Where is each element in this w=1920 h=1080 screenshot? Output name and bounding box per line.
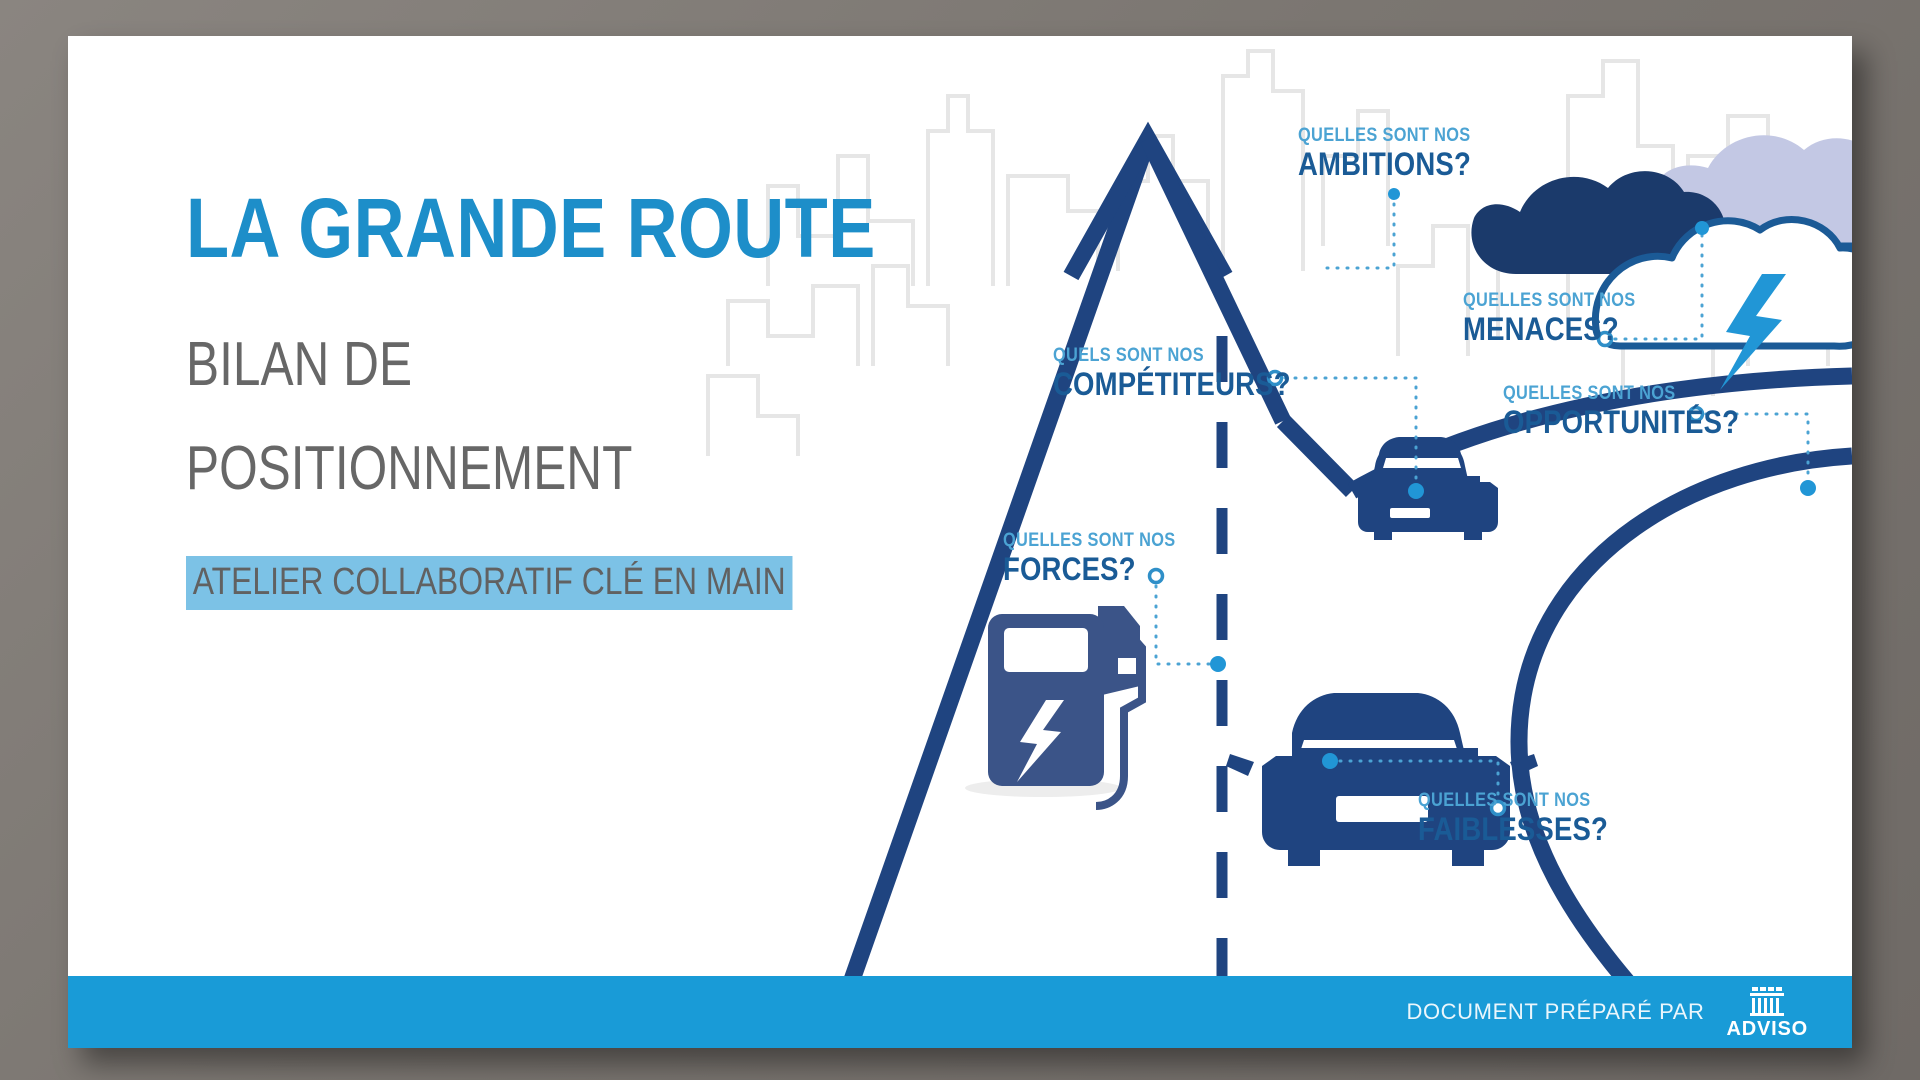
callout-opportunites-lead: QUELLES SONT NOS <box>1503 384 1739 404</box>
callout-faiblesses: QUELLES SONT NOS FAIBLESSES? <box>1418 791 1639 847</box>
callout-faiblesses-label: FAIBLESSES? <box>1418 813 1608 847</box>
prepared-by-label: DOCUMENT PRÉPARÉ PAR <box>1406 999 1704 1025</box>
callout-forces-label: FORCES? <box>1003 553 1176 587</box>
tagline-wrapper: ATELIER COLLABORATIF CLÉ EN MAIN <box>186 556 908 610</box>
adviso-logo: ADVISO <box>1727 986 1808 1039</box>
desktop-background: LA GRANDE ROUTE BILAN DE POSITIONNEMENT … <box>0 0 1920 1080</box>
callout-ambitions-label: AMBITIONS? <box>1298 148 1471 182</box>
adviso-wordmark: ADVISO <box>1727 1019 1808 1039</box>
callout-competiteurs-label: COMPÉTITEURS? <box>1053 368 1291 402</box>
callout-menaces: QUELLES SONT NOS MENACES? <box>1463 291 1664 347</box>
callout-forces: QUELLES SONT NOS FORCES? <box>1003 531 1204 587</box>
adviso-mark-icon <box>1748 986 1786 1016</box>
callout-forces-lead: QUELLES SONT NOS <box>1003 531 1176 551</box>
subtitle-line-1: BILAN DE <box>186 334 794 396</box>
slide-text-column: LA GRANDE ROUTE BILAN DE POSITIONNEMENT … <box>186 186 946 610</box>
page-title: LA GRANDE ROUTE <box>186 186 824 270</box>
callout-menaces-label: MENACES? <box>1463 313 1636 347</box>
callout-opportunites: QUELLES SONT NOS OPPORTUNITÉS? <box>1503 384 1778 440</box>
callout-menaces-lead: QUELLES SONT NOS <box>1463 291 1636 311</box>
slide-footer: DOCUMENT PRÉPARÉ PAR ADVISO <box>68 976 1852 1048</box>
callout-ambitions: QUELLES SONT NOS AMBITIONS? <box>1298 126 1499 182</box>
subtitle-line-2: POSITIONNEMENT <box>186 438 794 500</box>
callout-ambitions-lead: QUELLES SONT NOS <box>1298 126 1471 146</box>
callout-competiteurs: QUELS SONT NOS COMPÉTITEURS? <box>1053 346 1329 402</box>
callout-opportunites-label: OPPORTUNITÉS? <box>1503 406 1739 440</box>
car-front-small-icon <box>1358 437 1498 540</box>
callout-faiblesses-lead: QUELLES SONT NOS <box>1418 791 1608 811</box>
callout-competiteurs-lead: QUELS SONT NOS <box>1053 346 1291 366</box>
presentation-slide: LA GRANDE ROUTE BILAN DE POSITIONNEMENT … <box>68 36 1852 1048</box>
ev-charging-station-icon <box>965 606 1142 806</box>
tagline-highlight: ATELIER COLLABORATIF CLÉ EN MAIN <box>186 556 792 610</box>
storm-cloud-icon <box>1471 135 1852 390</box>
